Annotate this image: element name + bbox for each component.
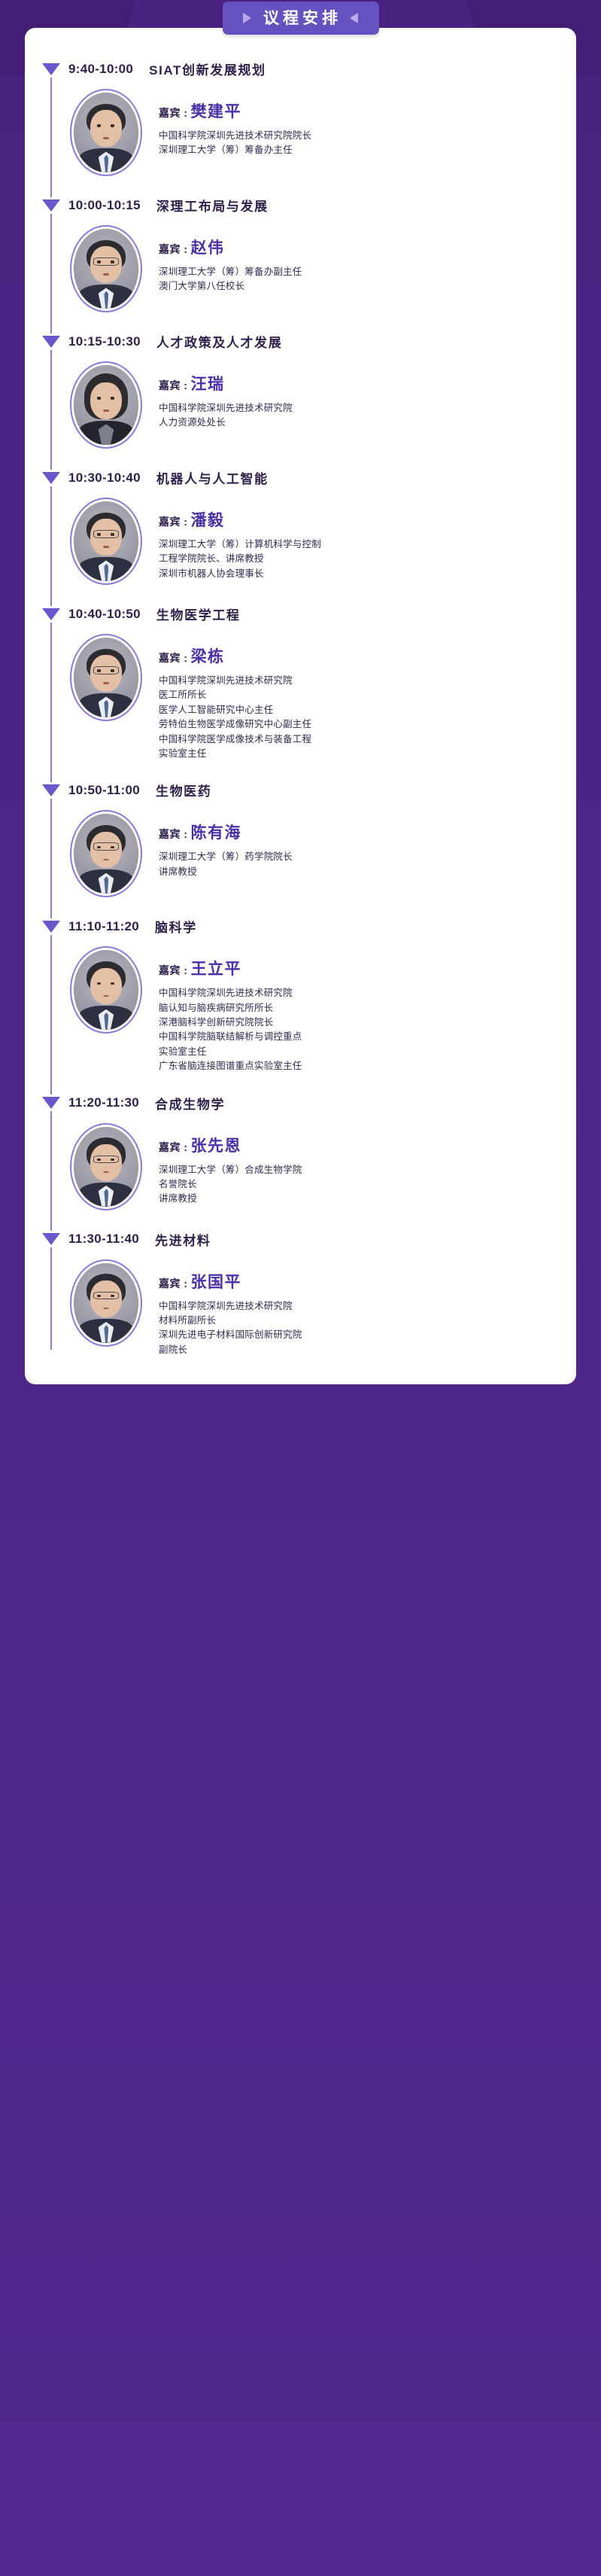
- triangle-down-glyph: [42, 784, 60, 796]
- speaker-title-line: 广东省脑连接图谱重点实验室主任: [159, 1059, 576, 1073]
- speaker-title-line: 名誉院长: [159, 1177, 576, 1192]
- speaker-block: 嘉宾 :梁栋中国科学院深圳先进技术研究院医工所所长医学人工智能研究中心主任劳特伯…: [25, 634, 576, 761]
- guest-label: 嘉宾 :: [159, 105, 188, 120]
- speaker-title-line: 澳门大学第八任校长: [159, 279, 576, 294]
- guest-label: 嘉宾 :: [159, 242, 188, 257]
- speaker-info: 嘉宾 :汪瑞中国科学院深圳先进技术研究院人力资源处处长: [142, 361, 576, 431]
- speaker-name-row: 嘉宾 :梁栋: [159, 644, 576, 667]
- speaker-info: 嘉宾 :樊建平中国科学院深圳先进技术研究院院长深圳理工大学（筹）筹备办主任: [142, 89, 576, 158]
- speaker-title-line: 医工所所长: [159, 688, 576, 702]
- guest-label: 嘉宾 :: [159, 514, 188, 529]
- session-topic: 先进材料: [155, 1230, 211, 1249]
- speaker-block: 嘉宾 :陈有海深圳理工大学（筹）药学院院长讲席教授: [25, 810, 576, 897]
- guest-label: 嘉宾 :: [159, 1276, 188, 1291]
- session-time: 10:15-10:30: [68, 334, 141, 349]
- session-header[interactable]: 10:50-11:00生物医药: [25, 781, 576, 799]
- avatar-ring: [70, 361, 142, 449]
- speaker-title-line: 中国科学院深圳先进技术研究院: [159, 1299, 576, 1314]
- session-header[interactable]: 11:20-11:30合成生物学: [25, 1094, 576, 1113]
- triangle-down-glyph: [42, 336, 60, 348]
- session-topic: 人才政策及人才发展: [156, 332, 282, 351]
- session-header[interactable]: 11:10-11:20脑科学: [25, 917, 576, 936]
- session-time: 10:30-10:40: [68, 470, 141, 486]
- agenda-card: 9:40-10:00SIAT创新发展规划嘉宾 :樊建平中国科学院深圳先进技术研究…: [25, 28, 576, 1384]
- triangle-down-glyph: [42, 1233, 60, 1245]
- agenda-session: 10:40-10:50生物医学工程嘉宾 :梁栋中国科学院深圳先进技术研究院医工所…: [25, 604, 576, 761]
- guest-label: 嘉宾 :: [159, 378, 188, 393]
- guest-label: 嘉宾 :: [159, 963, 188, 978]
- session-header[interactable]: 10:00-10:15深理工布局与发展: [25, 196, 576, 215]
- speaker-name: 王立平: [191, 957, 242, 979]
- speaker-block: 嘉宾 :张先恩深圳理工大学（筹）合成生物学院名誉院长讲席教授: [25, 1123, 576, 1210]
- speaker-titles: 深圳理工大学（筹）计算机科学与控制工程学院院长、讲席教授深圳市机器人协会理事长: [159, 537, 576, 581]
- triangle-down-icon: [41, 333, 60, 350]
- agenda-session: 10:00-10:15深理工布局与发展嘉宾 :赵伟深圳理工大学（筹）筹备办副主任…: [25, 196, 576, 312]
- triangle-down-icon: [41, 197, 60, 214]
- avatar-ring: [70, 1123, 142, 1210]
- triangle-down-glyph: [42, 1097, 60, 1109]
- speaker-title-line: 深圳理工大学（筹）药学院院长: [159, 850, 576, 864]
- triangle-down-glyph: [42, 608, 60, 620]
- triangle-down-glyph: [42, 921, 60, 933]
- speaker-titles: 中国科学院深圳先进技术研究院脑认知与脑疾病研究所所长深港脑科学创新研究院院长中国…: [159, 986, 576, 1073]
- speaker-title-line: 中国科学院脑联结解析与调控重点: [159, 1030, 576, 1044]
- speaker-title-line: 讲席教授: [159, 865, 576, 879]
- agenda-session: 10:15-10:30人才政策及人才发展嘉宾 :汪瑞中国科学院深圳先进技术研究院…: [25, 332, 576, 449]
- session-time: 10:00-10:15: [68, 198, 141, 213]
- speaker-title-line: 讲席教授: [159, 1192, 576, 1206]
- speaker-titles: 深圳理工大学（筹）合成生物学院名誉院长讲席教授: [159, 1163, 576, 1207]
- session-topic: 合成生物学: [155, 1094, 225, 1113]
- speaker-name: 赵伟: [191, 236, 225, 258]
- avatar-ring: [70, 634, 142, 721]
- avatar-ring: [70, 946, 142, 1034]
- speaker-title-line: 实验室主任: [159, 747, 576, 761]
- triangle-down-icon: [41, 1231, 60, 1247]
- session-time: 9:40-10:00: [68, 62, 133, 77]
- speaker-name-row: 嘉宾 :汪瑞: [159, 372, 576, 394]
- agenda-session: 11:20-11:30合成生物学嘉宾 :张先恩深圳理工大学（筹）合成生物学院名誉…: [25, 1094, 576, 1210]
- speaker-name: 樊建平: [191, 99, 242, 122]
- speaker-title-line: 医学人工智能研究中心主任: [159, 703, 576, 717]
- speaker-name-row: 嘉宾 :张国平: [159, 1270, 576, 1293]
- avatar: [74, 638, 138, 717]
- speaker-info: 嘉宾 :张国平中国科学院深圳先进技术研究院材料所副所长深圳先进电子材料国际创新研…: [142, 1259, 576, 1358]
- avatar-ring: [70, 225, 142, 312]
- session-time: 10:50-11:00: [68, 783, 140, 798]
- speaker-name: 梁栋: [191, 644, 225, 667]
- avatar: [74, 229, 138, 309]
- speaker-title-line: 深圳市机器人协会理事长: [159, 567, 576, 581]
- session-header[interactable]: 10:15-10:30人才政策及人才发展: [25, 332, 576, 351]
- speaker-title-line: 副院长: [159, 1343, 576, 1357]
- triangle-down-icon: [41, 1095, 60, 1111]
- speaker-block: 嘉宾 :赵伟深圳理工大学（筹）筹备办副主任澳门大学第八任校长: [25, 225, 576, 312]
- session-topic: 脑科学: [155, 917, 197, 936]
- session-header[interactable]: 10:30-10:40机器人与人工智能: [25, 468, 576, 487]
- triangle-right-icon: [243, 13, 251, 23]
- avatar: [74, 1127, 138, 1207]
- speaker-title-line: 脑认知与脑疾病研究所所长: [159, 1001, 576, 1015]
- triangle-down-glyph: [42, 199, 60, 212]
- speaker-title-line: 中国科学院深圳先进技术研究院院长: [159, 129, 576, 143]
- session-topic: 生物医学工程: [156, 604, 241, 623]
- speaker-name-row: 嘉宾 :王立平: [159, 957, 576, 979]
- speaker-title-line: 中国科学院深圳先进技术研究院: [159, 674, 576, 688]
- agenda-session: 11:10-11:20脑科学嘉宾 :王立平中国科学院深圳先进技术研究院脑认知与脑…: [25, 917, 576, 1073]
- triangle-down-icon: [41, 782, 60, 799]
- triangle-down-glyph: [42, 472, 60, 484]
- speaker-title-line: 深圳理工大学（筹）筹备办副主任: [159, 265, 576, 279]
- speaker-info: 嘉宾 :张先恩深圳理工大学（筹）合成生物学院名誉院长讲席教授: [142, 1123, 576, 1207]
- speaker-titles: 深圳理工大学（筹）药学院院长讲席教授: [159, 850, 576, 879]
- guest-label: 嘉宾 :: [159, 827, 188, 842]
- speaker-name: 汪瑞: [191, 372, 225, 394]
- agenda-timeline: 9:40-10:00SIAT创新发展规划嘉宾 :樊建平中国科学院深圳先进技术研究…: [25, 59, 576, 1357]
- avatar-ring: [70, 89, 142, 176]
- session-header[interactable]: 11:30-11:40先进材料: [25, 1230, 576, 1249]
- speaker-info: 嘉宾 :梁栋中国科学院深圳先进技术研究院医工所所长医学人工智能研究中心主任劳特伯…: [142, 634, 576, 761]
- speaker-block: 嘉宾 :汪瑞中国科学院深圳先进技术研究院人力资源处处长: [25, 361, 576, 449]
- speaker-name: 张国平: [191, 1270, 242, 1293]
- speaker-name: 张先恩: [191, 1134, 242, 1156]
- session-time: 11:20-11:30: [68, 1095, 139, 1110]
- speaker-titles: 中国科学院深圳先进技术研究院材料所副所长深圳先进电子材料国际创新研究院副院长: [159, 1299, 576, 1358]
- avatar-ring: [70, 810, 142, 897]
- speaker-title-line: 深圳先进电子材料国际创新研究院: [159, 1328, 576, 1342]
- session-topic: 生物医药: [156, 781, 211, 799]
- speaker-title-line: 中国科学院深圳先进技术研究院: [159, 986, 576, 1000]
- avatar: [74, 814, 138, 894]
- speaker-title-line: 实验室主任: [159, 1045, 576, 1059]
- page-title: 议程安排: [260, 11, 341, 26]
- speaker-block: 嘉宾 :王立平中国科学院深圳先进技术研究院脑认知与脑疾病研究所所长深港脑科学创新…: [25, 946, 576, 1073]
- speaker-title-line: 材料所副所长: [159, 1314, 576, 1328]
- speaker-title-line: 深圳理工大学（筹）合成生物学院: [159, 1163, 576, 1177]
- speaker-titles: 中国科学院深圳先进技术研究院人力资源处处长: [159, 401, 576, 431]
- triangle-down-icon: [41, 918, 60, 935]
- speaker-name-row: 嘉宾 :赵伟: [159, 236, 576, 258]
- header-banner: 议程安排: [223, 2, 379, 35]
- speaker-title-line: 深圳理工大学（筹）计算机科学与控制: [159, 537, 576, 552]
- agenda-session: 10:50-11:00生物医药嘉宾 :陈有海深圳理工大学（筹）药学院院长讲席教授: [25, 781, 576, 897]
- avatar: [74, 365, 138, 445]
- speaker-title-line: 深港脑科学创新研究院院长: [159, 1015, 576, 1030]
- triangle-down-icon: [41, 61, 60, 78]
- agenda-session: 9:40-10:00SIAT创新发展规划嘉宾 :樊建平中国科学院深圳先进技术研究…: [25, 59, 576, 176]
- avatar-ring: [70, 1259, 142, 1347]
- speaker-name-row: 嘉宾 :陈有海: [159, 821, 576, 843]
- speaker-info: 嘉宾 :潘毅深圳理工大学（筹）计算机科学与控制工程学院院长、讲席教授深圳市机器人…: [142, 498, 576, 581]
- speaker-titles: 深圳理工大学（筹）筹备办副主任澳门大学第八任校长: [159, 265, 576, 294]
- speaker-name-row: 嘉宾 :潘毅: [159, 508, 576, 531]
- speaker-title-line: 中国科学院深圳先进技术研究院: [159, 401, 576, 416]
- speaker-info: 嘉宾 :赵伟深圳理工大学（筹）筹备办副主任澳门大学第八任校长: [142, 225, 576, 294]
- speaker-title-line: 工程学院院长、讲席教授: [159, 552, 576, 566]
- session-topic: 机器人与人工智能: [156, 468, 269, 487]
- avatar: [74, 93, 138, 172]
- speaker-name: 陈有海: [191, 821, 242, 843]
- session-time: 10:40-10:50: [68, 607, 141, 622]
- avatar: [74, 1263, 138, 1343]
- triangle-down-glyph: [42, 63, 60, 75]
- avatar: [74, 501, 138, 581]
- speaker-name: 潘毅: [191, 508, 225, 531]
- guest-label: 嘉宾 :: [159, 1140, 188, 1155]
- speaker-title-line: 人力资源处处长: [159, 416, 576, 430]
- speaker-name-row: 嘉宾 :张先恩: [159, 1134, 576, 1156]
- speaker-block: 嘉宾 :潘毅深圳理工大学（筹）计算机科学与控制工程学院院长、讲席教授深圳市机器人…: [25, 498, 576, 585]
- agenda-session: 11:30-11:40先进材料嘉宾 :张国平中国科学院深圳先进技术研究院材料所副…: [25, 1230, 576, 1358]
- session-header[interactable]: 10:40-10:50生物医学工程: [25, 604, 576, 623]
- guest-label: 嘉宾 :: [159, 650, 188, 665]
- session-time: 11:10-11:20: [68, 919, 139, 934]
- triangle-left-icon: [350, 13, 358, 23]
- speaker-title-line: 深圳理工大学（筹）筹备办主任: [159, 143, 576, 157]
- speaker-titles: 中国科学院深圳先进技术研究院院长深圳理工大学（筹）筹备办主任: [159, 129, 576, 158]
- speaker-title-line: 中国科学院医学成像技术与装备工程: [159, 732, 576, 747]
- speaker-titles: 中国科学院深圳先进技术研究院医工所所长医学人工智能研究中心主任劳特伯生物医学成像…: [159, 674, 576, 761]
- session-time: 11:30-11:40: [68, 1232, 139, 1247]
- speaker-block: 嘉宾 :张国平中国科学院深圳先进技术研究院材料所副所长深圳先进电子材料国际创新研…: [25, 1259, 576, 1358]
- speaker-info: 嘉宾 :王立平中国科学院深圳先进技术研究院脑认知与脑疾病研究所所长深港脑科学创新…: [142, 946, 576, 1073]
- avatar: [74, 950, 138, 1030]
- session-header[interactable]: 9:40-10:00SIAT创新发展规划: [25, 59, 576, 78]
- triangle-down-icon: [41, 606, 60, 623]
- session-topic: 深理工布局与发展: [156, 196, 269, 215]
- speaker-block: 嘉宾 :樊建平中国科学院深圳先进技术研究院院长深圳理工大学（筹）筹备办主任: [25, 89, 576, 176]
- session-topic: SIAT创新发展规划: [149, 59, 266, 78]
- avatar-ring: [70, 498, 142, 585]
- triangle-down-icon: [41, 470, 60, 486]
- agenda-session: 10:30-10:40机器人与人工智能嘉宾 :潘毅深圳理工大学（筹）计算机科学与…: [25, 468, 576, 585]
- speaker-info: 嘉宾 :陈有海深圳理工大学（筹）药学院院长讲席教授: [142, 810, 576, 879]
- speaker-name-row: 嘉宾 :樊建平: [159, 99, 576, 122]
- speaker-title-line: 劳特伯生物医学成像研究中心副主任: [159, 717, 576, 732]
